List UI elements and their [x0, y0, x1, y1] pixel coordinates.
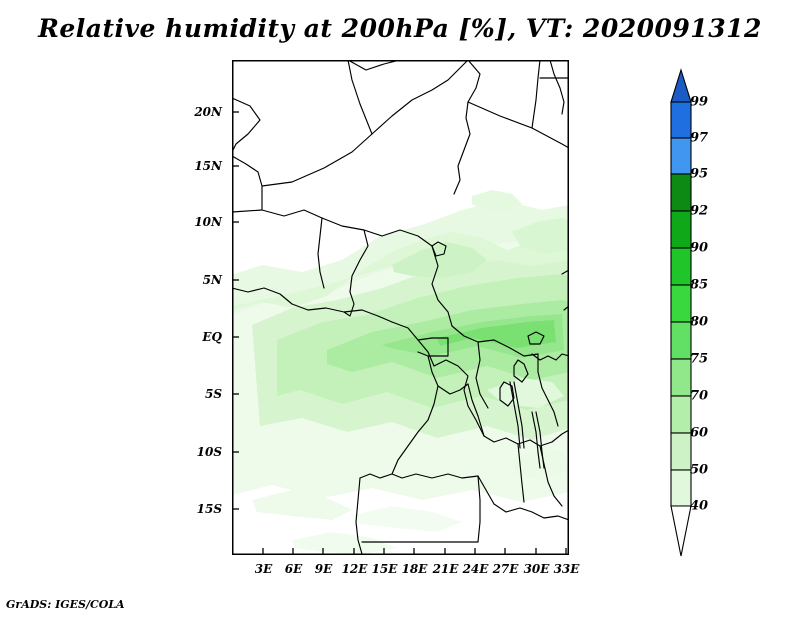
colorbar-label-85: 85	[690, 278, 708, 293]
map-plot-area	[232, 60, 569, 555]
colorbar-label-90: 90	[690, 241, 708, 256]
x-tick-label-3E: 3E	[248, 562, 279, 576]
grads-credit: GrADS: IGES/COLA	[6, 598, 125, 611]
y-tick-label-15N: 15N	[176, 159, 222, 173]
colorbar-label-92: 92	[690, 204, 708, 219]
x-tick-label-9E: 9E	[308, 562, 339, 576]
colorbar-label-95: 95	[690, 167, 708, 182]
colorbar-label-75: 75	[690, 352, 708, 367]
y-tick-label-5S: 5S	[176, 387, 222, 401]
y-tick-label-5N: 5N	[176, 273, 222, 287]
colorbar-swatches	[671, 70, 691, 556]
y-tick-label-15S: 15S	[176, 502, 222, 516]
colorbar-cap-bottom	[671, 506, 691, 556]
x-tick-label-18E: 18E	[399, 562, 430, 576]
y-tick-label-EQ: EQ	[176, 330, 222, 344]
x-tick-label-24E: 24E	[460, 562, 491, 576]
colorbar-label-70: 70	[690, 389, 708, 404]
x-tick-label-30E: 30E	[521, 562, 552, 576]
colorbar-label-99: 99	[690, 95, 708, 110]
x-tick-label-27E: 27E	[490, 562, 521, 576]
x-tick-label-21E: 21E	[430, 562, 461, 576]
page-title: Relative humidity at 200hPa [%], VT: 202…	[0, 14, 800, 43]
y-tick-label-10S: 10S	[176, 445, 222, 459]
colorbar-label-50: 50	[690, 463, 708, 478]
y-tick-label-10N: 10N	[176, 215, 222, 229]
colorbar-label-97: 97	[690, 131, 708, 146]
x-tick-label-12E: 12E	[339, 562, 370, 576]
y-tick-label-20N: 20N	[176, 105, 222, 119]
colorbar-cap-top	[671, 70, 691, 102]
x-tick-label-15E: 15E	[369, 562, 400, 576]
x-tick-label-6E: 6E	[278, 562, 309, 576]
x-tick-label-33E: 33E	[551, 562, 582, 576]
colorbar-label-40: 40	[690, 499, 708, 514]
colorbar-label-80: 80	[690, 315, 708, 330]
colorbar: 99 97 95 92 90 85 80 75 70 60 50 40	[662, 68, 792, 558]
colorbar-label-60: 60	[690, 426, 708, 441]
